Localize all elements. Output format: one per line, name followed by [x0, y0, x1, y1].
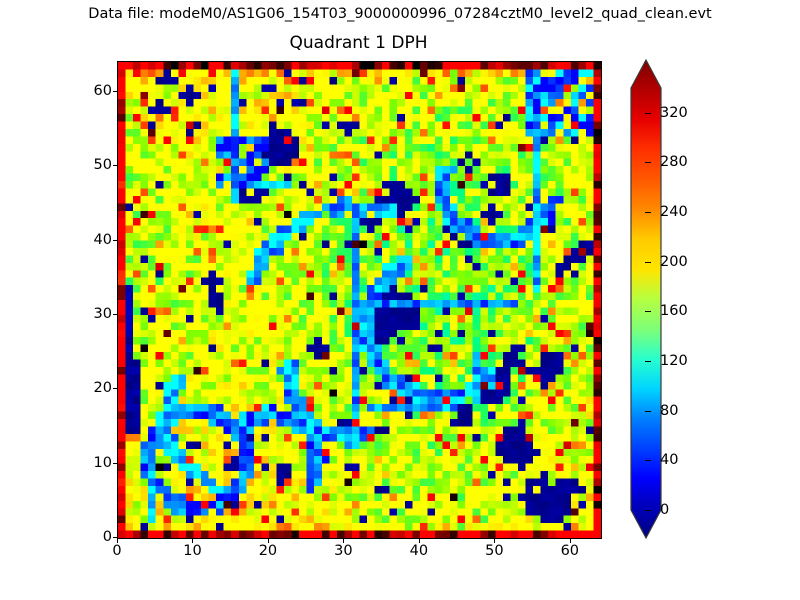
x-tick-mark	[419, 538, 420, 543]
y-tick-label: 40	[72, 232, 112, 248]
colorbar-tick-mark	[645, 361, 651, 362]
colorbar-gradient	[626, 58, 662, 540]
y-tick-mark	[113, 165, 118, 166]
colorbar-tick-label: 200	[660, 254, 688, 270]
heatmap-plot-area[interactable]	[117, 61, 602, 539]
x-tick-label: 20	[238, 543, 298, 559]
colorbar-tick-mark	[645, 162, 651, 163]
y-tick-mark	[113, 463, 118, 464]
colorbar-tick-label: 160	[660, 303, 688, 319]
x-tick-mark	[343, 538, 344, 543]
y-tick-label: 30	[72, 306, 112, 322]
colorbar-tick-label: 320	[660, 105, 688, 121]
colorbar-tick-label: 0	[660, 502, 669, 518]
x-tick-mark	[192, 538, 193, 543]
heatmap-canvas[interactable]	[118, 62, 601, 538]
x-tick-label: 0	[87, 543, 147, 559]
data-file-label: Data file: modeM0/AS1G06_154T03_90000009…	[0, 6, 800, 22]
page-title: Quadrant 1 DPH	[117, 33, 600, 53]
colorbar-tick-label: 120	[660, 353, 688, 369]
x-tick-label: 30	[313, 543, 373, 559]
y-tick-mark	[113, 240, 118, 241]
y-tick-label: 50	[72, 157, 112, 173]
colorbar-tick-label: 280	[660, 154, 688, 170]
colorbar-tick-mark	[645, 262, 651, 263]
colorbar-tick-mark	[645, 311, 651, 312]
x-tick-label: 10	[162, 543, 222, 559]
y-tick-label: 60	[72, 83, 112, 99]
colorbar-tick-mark	[645, 212, 651, 213]
x-tick-mark	[117, 538, 118, 543]
y-tick-label: 20	[72, 380, 112, 396]
x-tick-mark	[268, 538, 269, 543]
colorbar-tick-label: 80	[660, 403, 678, 419]
y-axis-tick-labels: 0102030405060	[68, 61, 112, 537]
colorbar-tick-mark	[645, 510, 651, 511]
colorbar-tick-mark	[645, 460, 651, 461]
colorbar-tick-mark	[645, 113, 651, 114]
y-tick-mark	[113, 91, 118, 92]
x-axis-tick-labels: 0102030405060	[117, 543, 600, 567]
colorbar-tick-mark	[645, 411, 651, 412]
y-tick-label: 10	[72, 455, 112, 471]
x-tick-mark	[570, 538, 571, 543]
x-tick-label: 60	[540, 543, 600, 559]
y-tick-mark	[113, 314, 118, 315]
colorbar-tick-label: 40	[660, 452, 678, 468]
x-tick-mark	[494, 538, 495, 543]
x-tick-label: 40	[389, 543, 449, 559]
colorbar-tick-label: 240	[660, 204, 688, 220]
colorbar[interactable]: 04080120160200240280320	[626, 58, 662, 540]
y-tick-mark	[113, 388, 118, 389]
x-tick-label: 50	[464, 543, 524, 559]
